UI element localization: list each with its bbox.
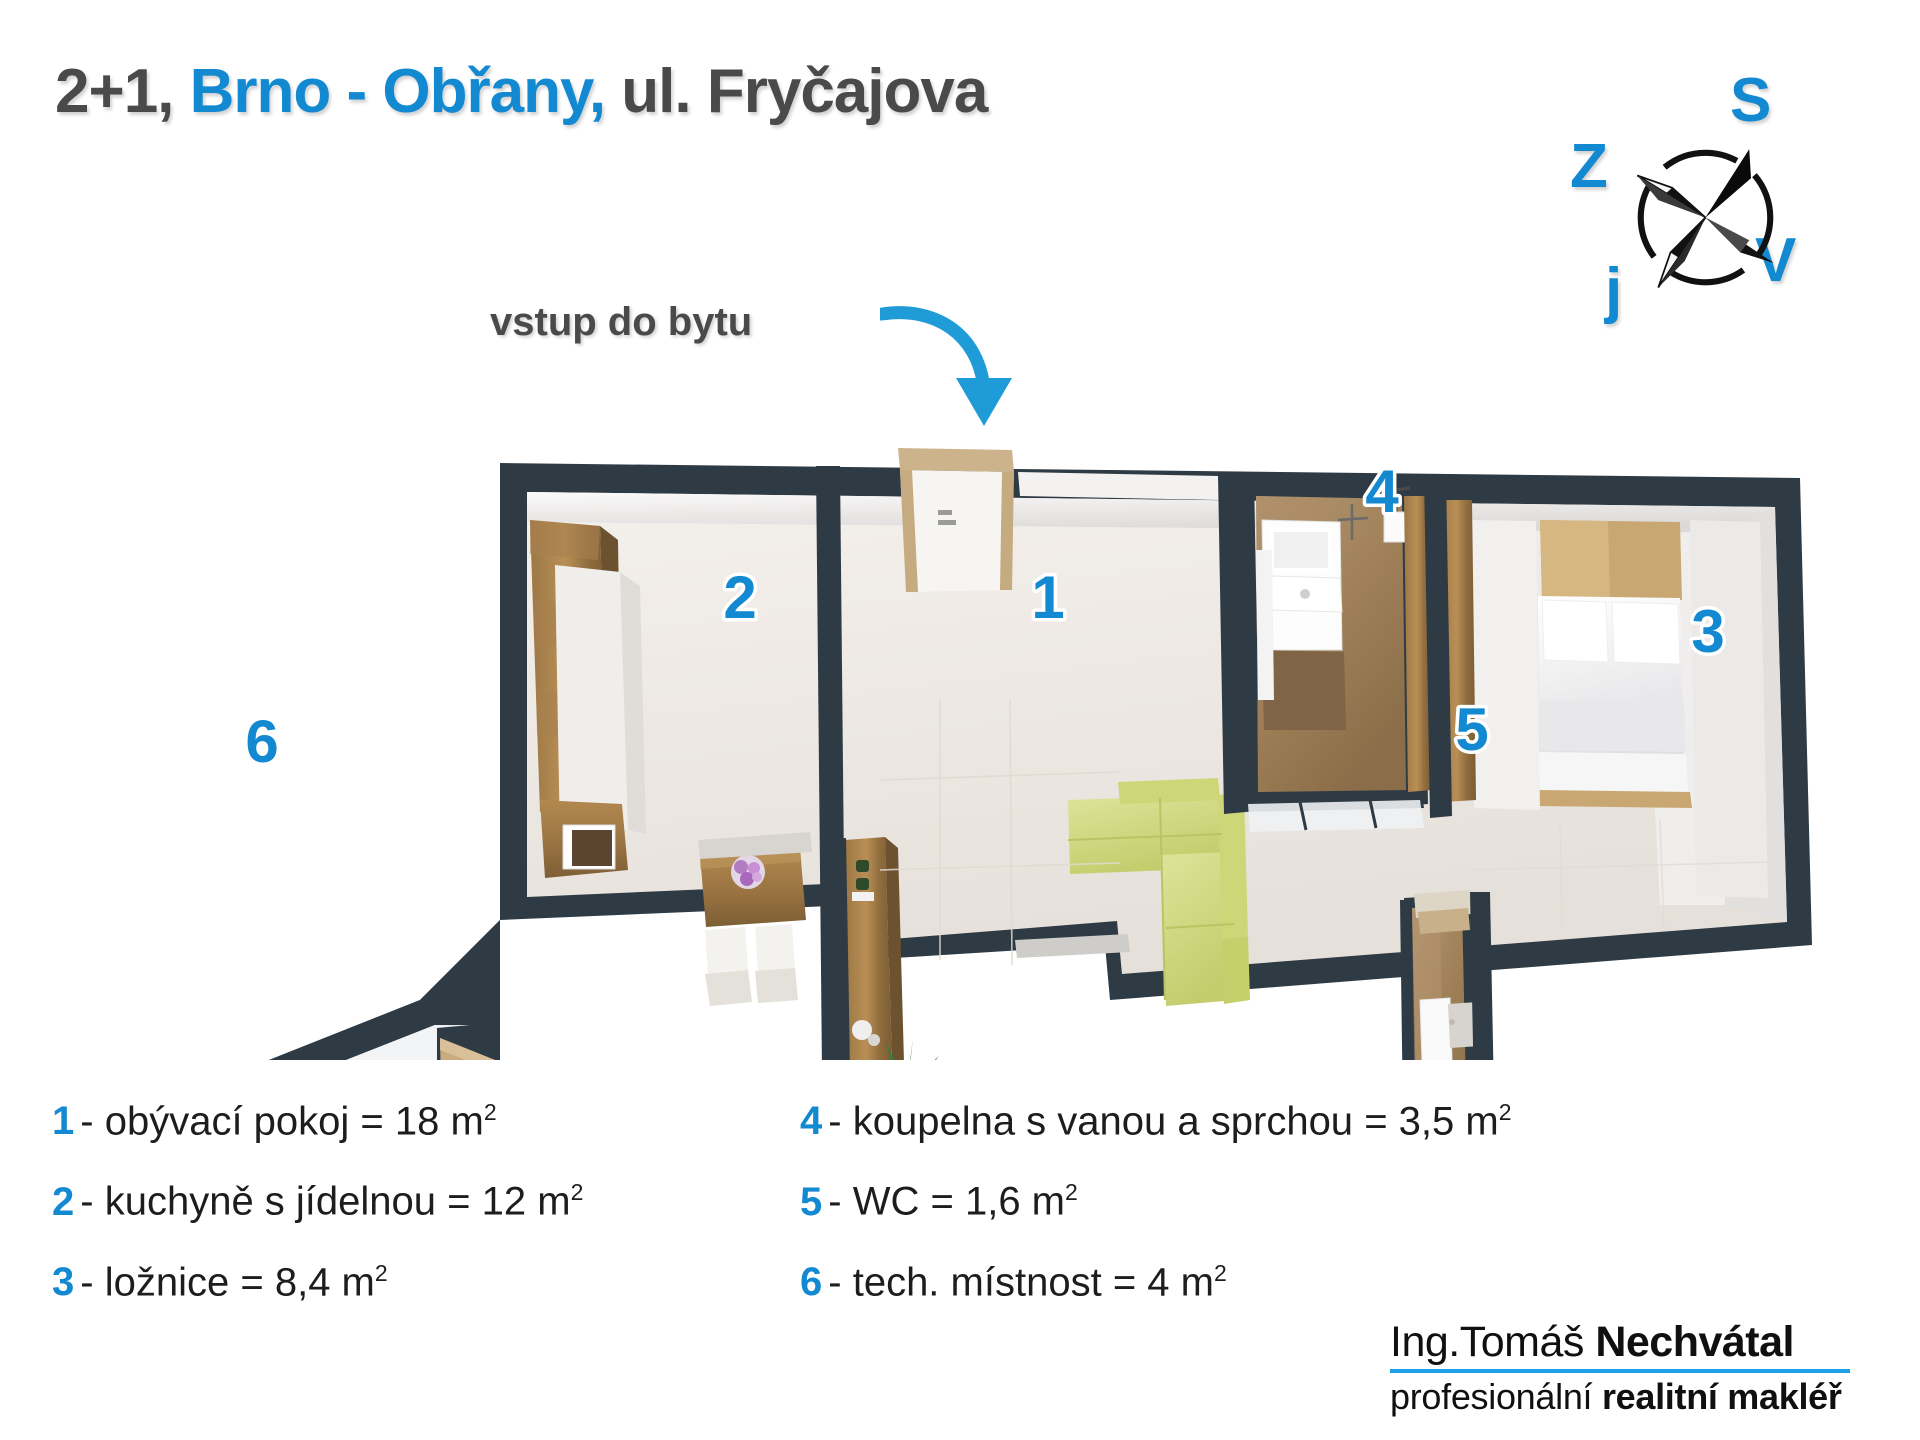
- legend-area-5: 1,6 m: [965, 1180, 1065, 1224]
- legend-area-6: 4 m: [1147, 1260, 1214, 1304]
- room-number-1: 1: [1031, 564, 1064, 631]
- room-4-bathroom: [1230, 476, 1432, 832]
- compass-label-west: Z: [1570, 136, 1608, 198]
- legend-item-1: 1- obývací pokoj = 18 m2: [52, 1100, 583, 1142]
- legend-unit-1: 2: [484, 1099, 497, 1125]
- legend-number-1: 1: [52, 1099, 74, 1143]
- agent-role-bold: realitní makléř: [1602, 1376, 1842, 1417]
- legend-left-column: 1- obývací pokoj = 18 m2 2- kuchyně s jí…: [52, 1100, 583, 1341]
- legend-number-6: 6: [800, 1260, 822, 1304]
- legend-name-1: obývací pokoj: [105, 1099, 350, 1143]
- room-5-wc: [1400, 890, 1496, 1060]
- legend-area-1: 18 m: [395, 1099, 484, 1143]
- compass-label-north: S: [1730, 70, 1771, 132]
- legend-number-4: 4: [800, 1099, 822, 1143]
- legend-eq-6: =: [1113, 1260, 1136, 1304]
- page-title: 2+1, Brno - Obřany, ul. Fryčajova: [55, 56, 987, 127]
- legend-name-2: kuchyně s jídelnou: [105, 1180, 436, 1224]
- room-number-2: 2: [723, 564, 756, 631]
- agent-name-light: Ing.Tomáš: [1390, 1318, 1595, 1366]
- agent-role-line: profesionální realitní makléř: [1390, 1376, 1870, 1418]
- agent-role-light: profesionální: [1390, 1376, 1602, 1417]
- legend-area-3: 8,4 m: [275, 1260, 375, 1304]
- legend-item-5: 5- WC = 1,6 m2: [800, 1180, 1512, 1222]
- legend-item-4: 4- koupelna s vanou a sprchou = 3,5 m2: [800, 1100, 1512, 1142]
- legend-name-5: WC: [853, 1180, 920, 1224]
- signature-divider: [1390, 1369, 1850, 1373]
- entry-label: vstup do bytu: [490, 300, 752, 345]
- legend-item-2: 2- kuchyně s jídelnou = 12 m2: [52, 1180, 583, 1222]
- compass-rose-icon: [1618, 130, 1793, 305]
- compass-rose: S Z V j: [1540, 60, 1870, 360]
- floorplan-svg: 1 2 3 4 5 6: [0, 400, 1920, 1060]
- title-prefix: 2+1,: [55, 57, 190, 126]
- legend-unit-6: 2: [1214, 1260, 1227, 1286]
- room-number-4: 4: [1365, 458, 1399, 525]
- agent-name-bold: Nechvátal: [1595, 1318, 1794, 1366]
- legend-number-2: 2: [52, 1180, 74, 1224]
- agent-name-line: Ing.Tomáš Nechvátal: [1390, 1318, 1870, 1367]
- legend-unit-5: 2: [1065, 1179, 1078, 1205]
- legend-unit-4: 2: [1499, 1099, 1512, 1125]
- title-accent: Brno - Obřany,: [190, 57, 605, 126]
- legend-area-2: 12 m: [482, 1180, 571, 1224]
- legend-dash-1: -: [80, 1099, 93, 1143]
- room-number-3: 3: [1691, 598, 1724, 665]
- legend-unit-3: 2: [375, 1260, 388, 1286]
- legend-name-6: tech. místnost: [853, 1260, 1102, 1304]
- room-number-5: 5: [1455, 696, 1488, 763]
- room-number-6: 6: [245, 708, 278, 775]
- agent-signature: Ing.Tomáš Nechvátal profesionální realit…: [1390, 1318, 1870, 1418]
- legend-dash-4: -: [828, 1099, 841, 1143]
- legend-area-4: 3,5 m: [1399, 1099, 1499, 1143]
- legend-eq-1: =: [360, 1099, 383, 1143]
- legend-item-6: 6- tech. místnost = 4 m2: [800, 1261, 1512, 1303]
- legend-right-column: 4- koupelna s vanou a sprchou = 3,5 m2 5…: [800, 1100, 1512, 1341]
- floorplan-image: 1 2 3 4 5 6: [0, 400, 1920, 1060]
- legend-unit-2: 2: [571, 1179, 584, 1205]
- legend-eq-2: =: [447, 1180, 470, 1224]
- title-suffix: ul. Fryčajova: [605, 57, 987, 126]
- legend-dash-2: -: [80, 1180, 93, 1224]
- legend-name-4: koupelna s vanou a sprchou: [853, 1099, 1353, 1143]
- legend-dash-5: -: [828, 1180, 841, 1224]
- legend-item-3: 3- ložnice = 8,4 m2: [52, 1261, 583, 1303]
- legend-eq-4: =: [1364, 1099, 1387, 1143]
- legend-dash-6: -: [828, 1260, 841, 1304]
- legend-number-5: 5: [800, 1180, 822, 1224]
- legend-eq-5: =: [930, 1180, 953, 1224]
- legend-eq-3: =: [240, 1260, 263, 1304]
- legend-number-3: 3: [52, 1260, 74, 1304]
- legend-dash-3: -: [80, 1260, 93, 1304]
- legend-name-3: ložnice: [105, 1260, 230, 1304]
- entry-door[interactable]: [898, 448, 1014, 592]
- floorplan-page: 2+1, Brno - Obřany, ul. Fryčajova S Z V …: [0, 0, 1920, 1440]
